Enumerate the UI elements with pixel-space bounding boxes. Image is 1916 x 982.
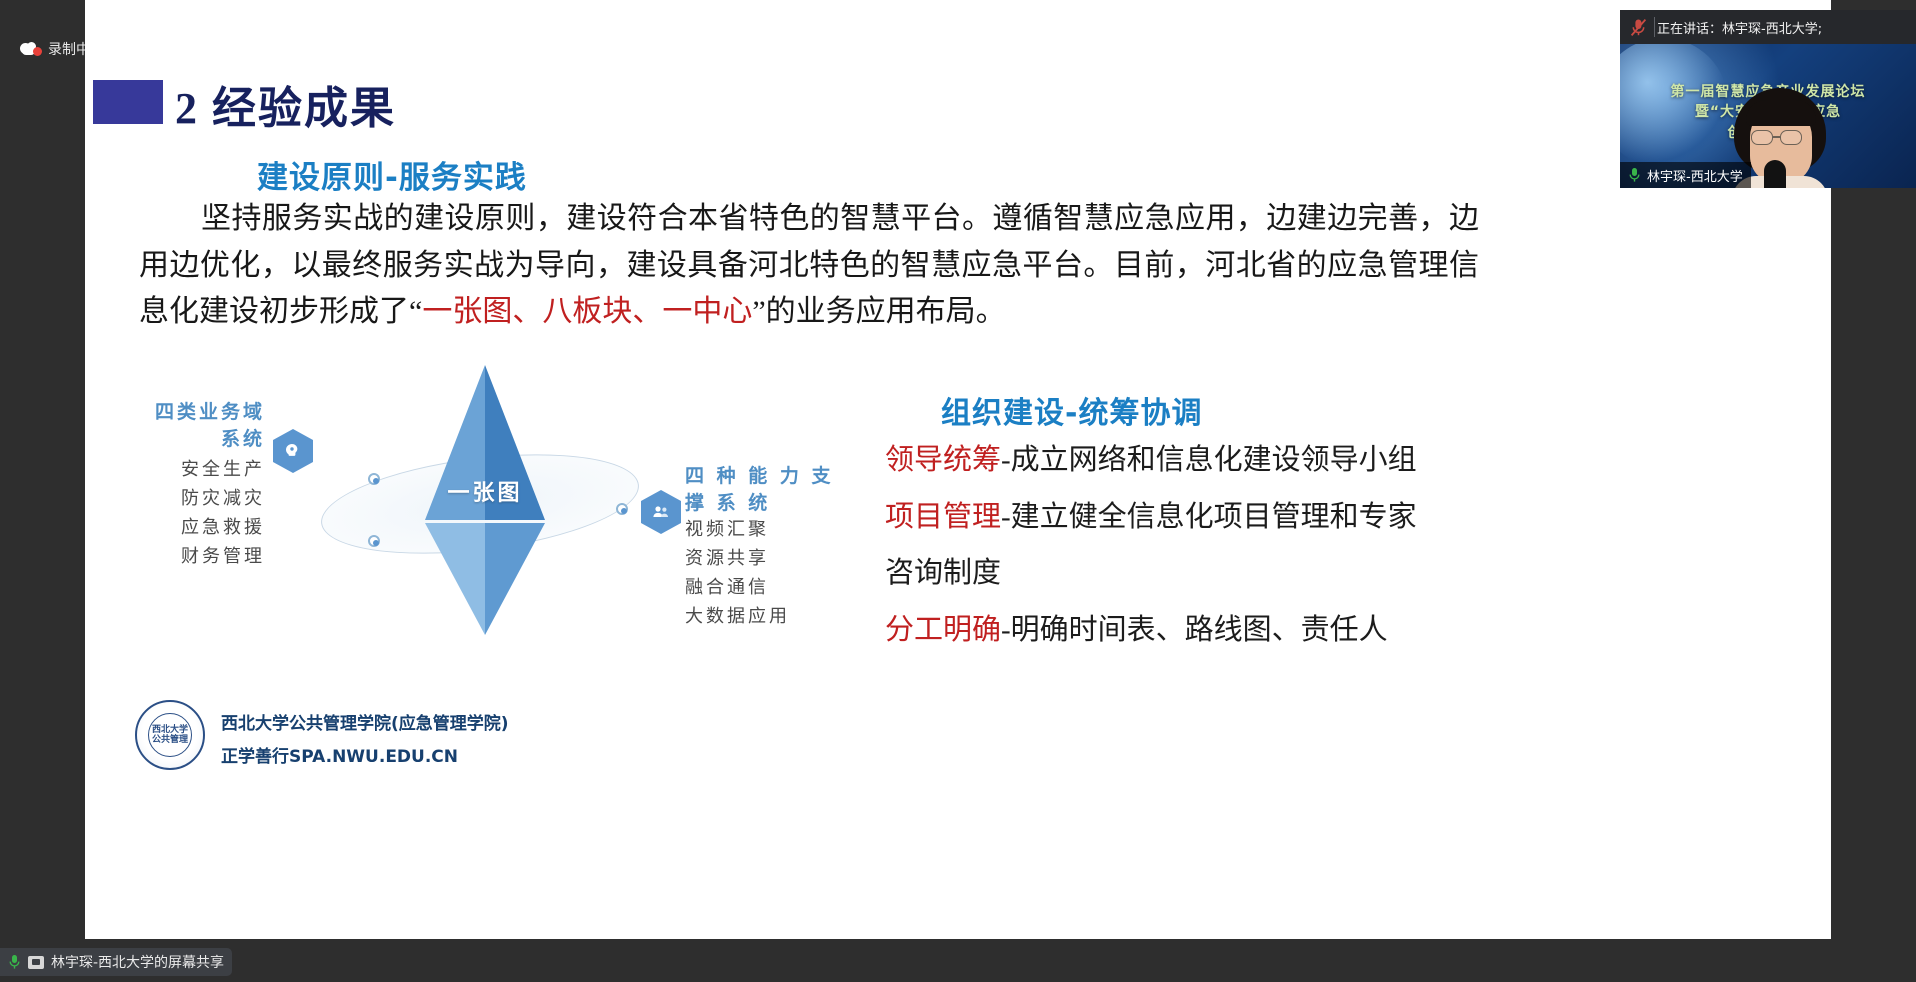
diagram-left-items: 安全生产 防灾减灾 应急救援 财务管理 xyxy=(143,455,265,572)
list-item: 领导统筹-成立网络和信息化建设领导小组 xyxy=(885,432,1585,489)
diagram-node xyxy=(368,473,380,485)
participant-name: 林宇琛-西北大学 xyxy=(1647,166,1743,185)
diagram-node xyxy=(616,503,628,515)
left-gutter xyxy=(0,0,85,982)
hexagon-users-icon xyxy=(641,490,681,534)
participant-name-bar: 林宇琛-西北大学 xyxy=(1620,162,1751,188)
bottom-gutter xyxy=(0,939,1916,982)
organization-list: 领导统筹-成立网络和信息化建设领导小组 项目管理-建立健全信息化项目管理和专家 … xyxy=(885,432,1585,658)
architecture-diagram: 四类业务域 系统 安全生产 防灾减灾 应急救援 财务管理 一张图 xyxy=(85,355,875,685)
recording-indicator[interactable]: 录制中 xyxy=(20,42,90,56)
video-feed[interactable]: 第一届智慧应急产业发展论坛 暨“大安全 ”智慧应急 创新联 大会 xyxy=(1620,44,1916,188)
mic-muted-icon[interactable] xyxy=(1630,18,1647,37)
topbar-divider xyxy=(1654,17,1655,37)
mic-on-icon xyxy=(1628,167,1641,183)
share-status-label: 林宇琛-西北大学的屏幕共享 xyxy=(51,952,224,972)
hexagon-head-idea-icon xyxy=(273,429,313,473)
list-item-key: 分工明确 xyxy=(885,614,1001,646)
slide-canvas: 2 经验成果 建设原则-服务实践 坚持服务实战的建设原则，建设符合本省特色的智慧… xyxy=(85,0,1831,939)
footer-line-1: 西北大学公共管理学院(应急管理学院) xyxy=(221,708,509,741)
footer-line-2: 正学善行SPA.NWU.EDU.CN xyxy=(221,741,509,774)
diagram-right-items: 视频汇聚 资源共享 融合通信 大数据应用 xyxy=(685,515,837,632)
speaking-label: 正在讲话：林宇琛-西北大学; xyxy=(1657,18,1822,37)
mic-on-icon[interactable] xyxy=(8,954,21,970)
cloud-record-icon xyxy=(20,42,42,56)
list-item-text: -建立健全信息化项目管理和专家 xyxy=(1001,501,1417,533)
list-item-key: 领导统筹 xyxy=(885,444,1001,476)
list-item: 咨询制度 xyxy=(885,545,1585,602)
screen-share-status-bar[interactable]: 林宇琛-西北大学的屏幕共享 xyxy=(0,948,232,976)
seal-inner-text: 西北大学 公共管理 xyxy=(148,713,192,757)
recording-label: 录制中 xyxy=(48,42,90,56)
body-paragraph: 坚持服务实战的建设原则，建设符合本省特色的智慧平台。遵循智慧应急应用，边建边完善… xyxy=(139,196,1479,336)
university-seal-logo: 西北大学 公共管理 xyxy=(135,700,205,770)
list-item: 分工明确-明确时间表、路线图、责任人 xyxy=(885,602,1585,659)
video-panel-topbar: 正在讲话：林宇琛-西北大学; xyxy=(1620,10,1916,44)
section-heading-organization: 组织建设-统筹协调 xyxy=(941,388,1202,432)
list-item-text: -成立网络和信息化建设领导小组 xyxy=(1001,444,1417,476)
section-heading-construction-principle: 建设原则-服务实践 xyxy=(257,152,527,197)
diagram-node xyxy=(368,535,380,547)
screen-root: 录制中 2 经验成果 建设原则-服务实践 坚持服务实战的建设原则，建设符合本省特… xyxy=(0,0,1916,982)
list-item: 项目管理-建立健全信息化项目管理和专家 xyxy=(885,489,1585,546)
list-item-text: -明确时间表、路线图、责任人 xyxy=(1001,614,1388,646)
list-item-key: 项目管理 xyxy=(885,501,1001,533)
title-accent-chip xyxy=(93,80,163,124)
diagram-right-title: 四 种 能 力 支 撑 系 统 xyxy=(685,463,837,517)
footer-text-block: 西北大学公共管理学院(应急管理学院) 正学善行SPA.NWU.EDU.CN xyxy=(221,708,509,774)
paragraph-suffix: ”的业务应用布局。 xyxy=(752,295,1005,328)
double-pyramid-graphic: 一张图 xyxy=(425,365,545,655)
participant-video-panel[interactable]: 正在讲话：林宇琛-西北大学; 第一届智慧应急产业发展论坛 暨“大安全 ”智慧应急… xyxy=(1620,10,1916,188)
screen-share-icon[interactable] xyxy=(28,956,44,969)
diagram-center-label: 一张图 xyxy=(425,475,545,507)
page-title: 2 经验成果 xyxy=(175,72,396,136)
diagram-left-title: 四类业务域 系统 xyxy=(143,399,265,453)
list-item-text: 咨询制度 xyxy=(885,557,1001,589)
paragraph-highlight: 一张图、八板块、一中心 xyxy=(422,295,752,328)
